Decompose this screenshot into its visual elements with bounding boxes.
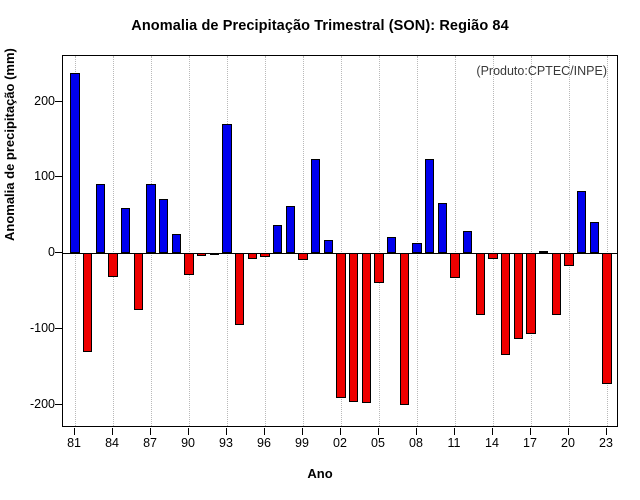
bar xyxy=(336,253,345,398)
y-axis-tick-labels: -200-1000100200 xyxy=(22,55,55,427)
y-tick-label: -100 xyxy=(30,321,55,335)
x-tick-label: 93 xyxy=(219,436,233,450)
y-tick-label: 200 xyxy=(34,94,55,108)
bar xyxy=(387,237,396,254)
bar xyxy=(121,208,130,254)
produto-annotation: (Produto:CPTEC/INPE) xyxy=(476,64,607,78)
x-tick-label: 23 xyxy=(599,436,613,450)
x-tick-label: 99 xyxy=(295,436,309,450)
x-tick-label: 81 xyxy=(67,436,81,450)
bar xyxy=(552,253,561,314)
bar xyxy=(235,253,244,325)
bar xyxy=(450,253,459,277)
bar xyxy=(488,253,497,258)
bar xyxy=(526,253,535,333)
x-tick-label: 05 xyxy=(371,436,385,450)
y-tick-label: 100 xyxy=(34,169,55,183)
y-axis-title: Anomalia de precipitação (mm) xyxy=(2,48,17,241)
bar xyxy=(134,253,143,309)
bar xyxy=(222,124,231,254)
bar xyxy=(260,253,269,257)
y-tick-mark xyxy=(55,252,62,253)
bar xyxy=(70,73,79,254)
bar xyxy=(108,253,117,277)
x-tick-label: 96 xyxy=(257,436,271,450)
bar xyxy=(184,253,193,274)
bar xyxy=(298,253,307,260)
x-tick-mark xyxy=(378,428,379,435)
x-axis-ticks: 818487909396990205081114172023 xyxy=(62,428,618,454)
bar xyxy=(172,234,181,254)
bar xyxy=(248,253,257,258)
x-tick-mark xyxy=(226,428,227,435)
bars-layer xyxy=(63,56,617,426)
bar xyxy=(210,253,219,255)
x-tick-label: 20 xyxy=(561,436,575,450)
x-tick-label: 84 xyxy=(105,436,119,450)
x-tick-label: 08 xyxy=(409,436,423,450)
bar xyxy=(374,253,383,283)
y-tick-label: 0 xyxy=(48,245,55,259)
y-tick-label: -200 xyxy=(30,397,55,411)
bar xyxy=(476,253,485,314)
bar xyxy=(273,225,282,253)
x-tick-mark xyxy=(416,428,417,435)
x-tick-mark xyxy=(530,428,531,435)
bar xyxy=(463,231,472,254)
y-tick-mark xyxy=(55,101,62,102)
x-tick-mark xyxy=(492,428,493,435)
bar xyxy=(425,159,434,253)
y-tick-mark xyxy=(55,404,62,405)
plot-area: (Produto:CPTEC/INPE) xyxy=(62,55,618,427)
bar xyxy=(96,184,105,253)
y-axis-tick-marks xyxy=(55,55,62,427)
bar xyxy=(514,253,523,339)
bar xyxy=(400,253,409,405)
x-tick-label: 11 xyxy=(447,436,460,450)
bar xyxy=(349,253,358,402)
x-tick-mark xyxy=(264,428,265,435)
bar xyxy=(324,240,333,254)
x-tick-mark xyxy=(150,428,151,435)
x-tick-mark xyxy=(340,428,341,435)
x-tick-label: 17 xyxy=(523,436,537,450)
x-tick-mark xyxy=(568,428,569,435)
chart-title: Anomalia de Precipitação Trimestral (SON… xyxy=(0,18,640,34)
bar xyxy=(501,253,510,355)
x-axis-title: Ano xyxy=(0,466,640,481)
x-tick-mark xyxy=(112,428,113,435)
x-tick-mark xyxy=(606,428,607,435)
bar xyxy=(311,159,320,253)
bar xyxy=(602,253,611,384)
bar xyxy=(438,203,447,254)
x-tick-label: 90 xyxy=(181,436,195,450)
y-tick-mark xyxy=(55,176,62,177)
bar xyxy=(564,253,573,265)
chart-root: Anomalia de Precipitação Trimestral (SON… xyxy=(0,0,640,500)
bar xyxy=(197,253,206,256)
bar xyxy=(590,222,599,254)
bar xyxy=(146,184,155,254)
x-tick-mark xyxy=(74,428,75,435)
x-tick-label: 14 xyxy=(485,436,499,450)
bar xyxy=(159,199,168,253)
x-tick-mark xyxy=(188,428,189,435)
bar xyxy=(412,243,421,254)
x-tick-mark xyxy=(302,428,303,435)
bar xyxy=(577,191,586,253)
x-tick-label: 02 xyxy=(333,436,347,450)
bar xyxy=(362,253,371,403)
y-tick-mark xyxy=(55,328,62,329)
x-tick-label: 87 xyxy=(143,436,157,450)
bar xyxy=(83,253,92,352)
bar xyxy=(286,206,295,254)
bar xyxy=(539,251,548,253)
x-tick-mark xyxy=(454,428,455,435)
